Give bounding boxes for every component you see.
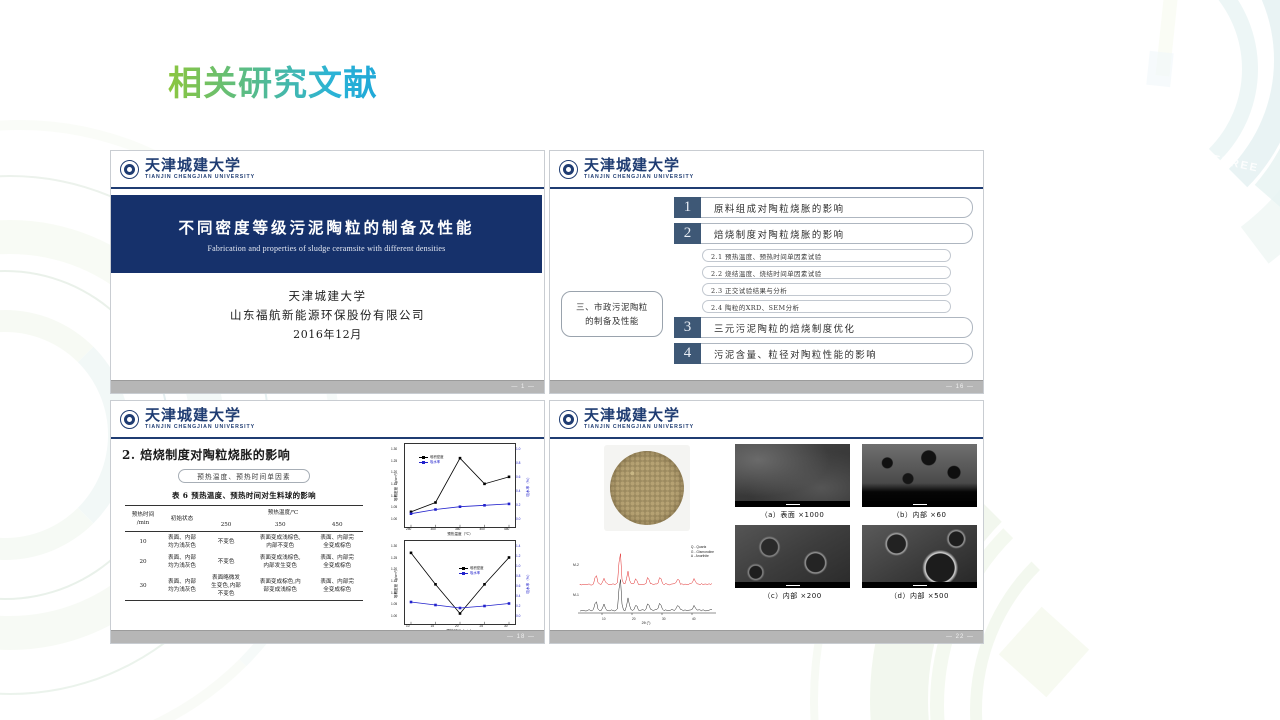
- university-name-en: TIANJIN CHENGJIAN UNIVERSITY: [145, 425, 255, 430]
- cover-affiliation-block: 天津城建大学 山东福航新能源环保股份有限公司 2016年12月: [111, 287, 544, 344]
- toc-item-2[interactable]: 2 焙烧制度对陶粒烧胀的影响: [674, 223, 973, 244]
- slide-toc-footer: — 16 —: [550, 380, 983, 393]
- toc-item-4[interactable]: 4 污泥含量、粒径对陶粒性能的影响: [674, 343, 973, 364]
- sem-image-d: [862, 525, 977, 588]
- sem-caption-d: （d）内部 ×500: [862, 588, 977, 606]
- table-caption: 表 6 预热温度、预热时间对生料球的影响: [119, 490, 369, 501]
- sem-cell-a: （a）表面 ×1000: [735, 444, 850, 525]
- toc-subitem-2-2[interactable]: 2.2 烧结温度、烧结时间单因素试验: [702, 266, 951, 279]
- xrd-row-label-m2: M-2: [573, 563, 579, 567]
- chart-xtick: 25: [480, 624, 484, 628]
- xrd-legend: Q - Quartz G - Gismondine A - Anorthite: [691, 545, 714, 559]
- slide-sem-xrd[interactable]: 天津城建大学 TIANJIN CHENGJIAN UNIVERSITY Q - …: [549, 400, 984, 644]
- university-name-en: TIANJIN CHENGJIAN UNIVERSITY: [584, 175, 694, 180]
- xrd-xtick-20: 20: [632, 617, 636, 621]
- cell-time: 20: [125, 552, 161, 572]
- chart-y2tick: 0.2: [516, 604, 520, 608]
- cover-title-en: Fabrication and properties of sludge cer…: [208, 244, 446, 253]
- decor-arc-topright-4: [1000, 0, 1258, 198]
- th-temp-450: 450: [311, 519, 363, 532]
- cell-time: 10: [125, 532, 161, 553]
- cell-initial: 表面、内部均为浅灰色: [161, 552, 203, 572]
- chart-xtick: 10: [406, 624, 410, 628]
- slide-table-charts-header: 天津城建大学 TIANJIN CHENGJIAN UNIVERSITY: [111, 401, 544, 439]
- slide-number: — 16 —: [946, 384, 974, 390]
- chart-ytick: 1.20: [391, 470, 397, 474]
- slide-cover[interactable]: 天津城建大学 TIANJIN CHENGJIAN UNIVERSITY 不同密度…: [110, 150, 545, 394]
- sem-caption-b: （b）内部 ×60: [862, 507, 977, 525]
- sem-image-b: [862, 444, 977, 507]
- toc-subitem-2-4[interactable]: 2.4 陶粒的XRD、SEM分析: [702, 300, 951, 313]
- toc-item-1[interactable]: 1 原料组成对陶粒烧胀的影响: [674, 197, 973, 218]
- toc-container: 三、市政污泥陶粒 的制备及性能 1 原料组成对陶粒烧胀的影响 2 焙烧制度对陶粒…: [550, 191, 983, 380]
- chart-preheat-time: 堆积密度 吸水率: [404, 540, 516, 625]
- chart-xtick: 15: [431, 624, 435, 628]
- chart-xtick: 250: [406, 527, 411, 531]
- cell-250: 表面略微发生变色,内部不变色: [203, 572, 249, 601]
- th-preheat-time: 预热时间/min: [125, 506, 161, 532]
- chart-ytick: 1.30: [391, 544, 397, 548]
- decor-needle-top: [1156, 0, 1179, 76]
- chart-y2tick: 0.4: [516, 594, 520, 598]
- sem-caption-c: （c）内部 ×200: [735, 588, 850, 606]
- toc-section-line-1: 三、市政污泥陶粒: [576, 300, 648, 314]
- toc-item-1-number: 1: [674, 197, 701, 218]
- chart-ytick: 1.15: [391, 579, 397, 583]
- chart-y2tick: 1.0: [516, 447, 520, 451]
- xrd-chart: Q - Quartz G - Gismondine A - Anorthite …: [574, 541, 718, 617]
- xrd-xtick-40: 40: [692, 617, 696, 621]
- cell-450: 表面、内部完全变成棕色: [311, 552, 363, 572]
- xrd-xlabel: 2θ (°): [642, 621, 651, 625]
- sem-image-a: [735, 444, 850, 507]
- slide-number: — 22 —: [946, 634, 974, 640]
- decor-needle-base: [1146, 51, 1173, 87]
- th-preheat-temp-group: 预热温度/℃: [203, 506, 363, 520]
- chart-xtick: 400: [480, 527, 485, 531]
- slide-table-charts-footer: — 18 —: [111, 630, 544, 643]
- toc-subitem-2-3[interactable]: 2.3 正交试验结果与分析: [702, 283, 951, 296]
- cell-350: 表面变成棕色,内部变成浅棕色: [249, 572, 311, 601]
- cell-450: 表面、内部完全变成棕色: [311, 532, 363, 553]
- chart-xtick: 300: [431, 527, 436, 531]
- chart1-legend: 堆积密度 吸水率: [417, 454, 446, 466]
- sem-cell-d: （d）内部 ×500: [862, 525, 977, 606]
- page-title: 相关研究文献: [168, 62, 378, 106]
- chart1-y2label: 吸水率（%）: [526, 475, 531, 496]
- toc-item-3-label: 三元污泥陶粒的焙烧制度优化: [701, 317, 973, 338]
- decor-arc-word-one: ONE: [1066, 184, 1094, 215]
- toc-subitem-list: 2.1 预热温度、预热时间单因素试验 2.2 烧结温度、烧结时间单因素试验 2.…: [674, 249, 973, 313]
- toc-item-4-number: 4: [674, 343, 701, 364]
- chart-y2tick: 1.2: [516, 554, 520, 558]
- chart-ytick: 1.15: [391, 482, 397, 486]
- chart-preheat-temperature: 堆积密度 吸水率: [404, 443, 516, 528]
- chart-xtick: 20: [455, 624, 459, 628]
- chart-y2tick: 0.4: [516, 489, 520, 493]
- slide-sem-xrd-footer: — 22 —: [550, 630, 983, 643]
- chart-ytick: 1.20: [391, 567, 397, 571]
- chart-xtick: 350: [455, 527, 460, 531]
- chart1-legend-2: 吸水率: [430, 460, 440, 465]
- chart-y2tick: 0.6: [516, 475, 520, 479]
- chart-xtick: 30: [504, 624, 508, 628]
- decor-polygon-bottomleft: [999, 607, 1089, 697]
- toc-subitem-2-1[interactable]: 2.1 预热温度、预热时间单因素试验: [702, 249, 951, 262]
- chart-y2tick: 1.4: [516, 544, 520, 548]
- university-logo-icon: [559, 410, 578, 429]
- university-name-en: TIANJIN CHENGJIAN UNIVERSITY: [145, 175, 255, 180]
- toc-item-1-label: 原料组成对陶粒烧胀的影响: [701, 197, 973, 218]
- slide3-pill-label: 预热温度、预热时间单因素: [178, 469, 310, 483]
- university-logo-icon: [559, 160, 578, 179]
- slide-number: — 1 —: [511, 384, 535, 390]
- slide-table-charts[interactable]: 天津城建大学 TIANJIN CHENGJIAN UNIVERSITY 2. 焙…: [110, 400, 545, 644]
- decor-arc-bottomright-3: [970, 500, 1280, 720]
- chart-y2tick: 0.0: [516, 614, 520, 618]
- chart-preheat-time-wrap: 堆积密度（g/cm³） 吸水率（%） 预热时间（min） 堆积密度 吸水率 10…: [404, 540, 516, 625]
- slide-cover-header: 天津城建大学 TIANJIN CHENGJIAN UNIVERSITY: [111, 151, 544, 189]
- slide-thumbnail-grid: 天津城建大学 TIANJIN CHENGJIAN UNIVERSITY 不同密度…: [110, 150, 984, 650]
- university-name-cn: 天津城建大学: [145, 158, 255, 174]
- university-name-cn: 天津城建大学: [584, 408, 694, 424]
- cell-time: 30: [125, 572, 161, 601]
- slide-cover-footer: — 1 —: [111, 380, 544, 393]
- chart2-legend: 堆积密度 吸水率: [457, 565, 486, 577]
- chart-y2tick: 0.6: [516, 584, 520, 588]
- sem-cell-c: （c）内部 ×200: [735, 525, 850, 606]
- cell-250: 不变色: [203, 532, 249, 553]
- table-header-row-1: 预热时间/min 初始状态 预热温度/℃: [125, 506, 363, 520]
- cover-affiliation-2: 山东福航新能源环保股份有限公司: [111, 306, 544, 325]
- decor-arc-topright-3: [940, 0, 1280, 240]
- ceramsite-pellet-pile: [610, 451, 684, 525]
- table-row: 10 表面、内部均为浅灰色 不变色 表面变成浅棕色,内部不变色 表面、内部完全变…: [125, 532, 363, 553]
- slide-toc[interactable]: 天津城建大学 TIANJIN CHENGJIAN UNIVERSITY 三、市政…: [549, 150, 984, 394]
- xrd-xtick-30: 30: [662, 617, 666, 621]
- th-temp-250: 250: [203, 519, 249, 532]
- chart1-xlabel: 预热温度（℃）: [447, 532, 473, 537]
- chart-y2tick: 0.8: [516, 461, 520, 465]
- chart-y2tick: 0.0: [516, 517, 520, 521]
- cell-250: 不变色: [203, 552, 249, 572]
- sem-image-c: [735, 525, 850, 588]
- decor-arc-word-two: TWO: [1139, 150, 1173, 172]
- slide-sem-xrd-header: 天津城建大学 TIANJIN CHENGJIAN UNIVERSITY: [550, 401, 983, 439]
- toc-item-2-number: 2: [674, 223, 701, 244]
- university-name-en: TIANJIN CHENGJIAN UNIVERSITY: [584, 425, 694, 430]
- university-name-cn: 天津城建大学: [584, 158, 694, 174]
- slide3-left-column: 2. 焙烧制度对陶粒烧胀的影响 预热温度、预热时间单因素 表 6 预热温度、预热…: [119, 443, 369, 601]
- th-temp-350: 350: [249, 519, 311, 532]
- chart2-y2label: 吸水率（%）: [526, 572, 531, 593]
- toc-item-3-number: 3: [674, 317, 701, 338]
- chart-ytick: 1.25: [391, 556, 397, 560]
- sem-row-1: （a）表面 ×1000 （b）内部 ×60: [735, 444, 977, 525]
- chart-ytick: 1.10: [391, 494, 397, 498]
- chart-y2tick: 0.2: [516, 503, 520, 507]
- chart-ytick: 1.05: [391, 602, 397, 606]
- slide4-container: Q - Quartz G - Gismondine A - Anorthite …: [550, 441, 983, 630]
- sem-cell-b: （b）内部 ×60: [862, 444, 977, 525]
- sem-image-grid: （a）表面 ×1000 （b）内部 ×60 （c）内部 ×200: [735, 444, 977, 606]
- chart-xtick: 450: [504, 527, 509, 531]
- cell-450: 表面、内部完全变成棕色: [311, 572, 363, 601]
- cell-initial: 表面、内部均为浅灰色: [161, 532, 203, 553]
- cover-title-cn: 不同密度等级污泥陶粒的制备及性能: [178, 216, 474, 238]
- toc-item-2-label: 焙烧制度对陶粒烧胀的影响: [701, 223, 973, 244]
- sem-caption-a: （a）表面 ×1000: [735, 507, 850, 525]
- toc-item-4-label: 污泥含量、粒径对陶粒性能的影响: [701, 343, 973, 364]
- table-row: 30 表面、内部均为浅灰色 表面略微发生变色,内部不变色 表面变成棕色,内部变成…: [125, 572, 363, 601]
- th-initial-state: 初始状态: [161, 506, 203, 532]
- university-logo-icon: [120, 410, 139, 429]
- slide-number: — 18 —: [507, 634, 535, 640]
- decor-arc-word-three: THREE: [1211, 153, 1260, 175]
- slide3-charts-column: 堆积密度（g/cm³） 吸水率（%） 预热温度（℃） 堆积密度 吸水率 2503…: [380, 443, 540, 637]
- table-row: 20 表面、内部均为浅灰色 不变色 表面变成浅棕色,内部发生变色 表面、内部完全…: [125, 552, 363, 572]
- cover-date: 2016年12月: [111, 325, 544, 344]
- xrd-xtick-10: 10: [602, 617, 606, 621]
- toc-section-line-2: 的制备及性能: [585, 314, 639, 328]
- toc-item-3[interactable]: 3 三元污泥陶粒的焙烧制度优化: [674, 317, 973, 338]
- cover-title-band: 不同密度等级污泥陶粒的制备及性能 Fabrication and propert…: [111, 195, 542, 273]
- chart-ytick: 1.00: [391, 614, 397, 618]
- sem-row-2: （c）内部 ×200 （d）内部 ×500: [735, 525, 977, 606]
- chart-y2tick: 0.8: [516, 574, 520, 578]
- cell-350: 表面变成浅棕色,内部发生变色: [249, 552, 311, 572]
- chart-ytick: 1.30: [391, 447, 397, 451]
- xrd-legend-a: A - Anorthite: [691, 554, 714, 559]
- slide3-heading: 2. 焙烧制度对陶粒烧胀的影响: [122, 446, 369, 463]
- ceramsite-photo: [604, 445, 690, 531]
- toc-list: 1 原料组成对陶粒烧胀的影响 2 焙烧制度对陶粒烧胀的影响 2.1 预热温度、预…: [674, 197, 973, 369]
- chart-ytick: 1.10: [391, 591, 397, 595]
- slide-toc-header: 天津城建大学 TIANJIN CHENGJIAN UNIVERSITY: [550, 151, 983, 189]
- cover-affiliation-1: 天津城建大学: [111, 287, 544, 306]
- chart-ytick: 1.05: [391, 505, 397, 509]
- university-logo-icon: [120, 160, 139, 179]
- university-name-cn: 天津城建大学: [145, 408, 255, 424]
- cell-350: 表面变成浅棕色,内部不变色: [249, 532, 311, 553]
- chart-preheat-temperature-wrap: 堆积密度（g/cm³） 吸水率（%） 预热温度（℃） 堆积密度 吸水率 2503…: [404, 443, 516, 528]
- slide-canvas: ONE TWO THREE 相关研究文献 天津城建大学 TIANJIN CHEN…: [0, 0, 1280, 720]
- xrd-row-label-m1: M-1: [573, 593, 579, 597]
- chart-ytick: 1.00: [391, 517, 397, 521]
- cell-initial: 表面、内部均为浅灰色: [161, 572, 203, 601]
- chart-ytick: 1.25: [391, 459, 397, 463]
- preheat-table: 预热时间/min 初始状态 预热温度/℃ 250 350 450 10: [125, 505, 363, 601]
- toc-section-box[interactable]: 三、市政污泥陶粒 的制备及性能: [561, 291, 663, 337]
- chart-y2tick: 1.0: [516, 564, 520, 568]
- chart2-legend-2: 吸水率: [470, 571, 480, 576]
